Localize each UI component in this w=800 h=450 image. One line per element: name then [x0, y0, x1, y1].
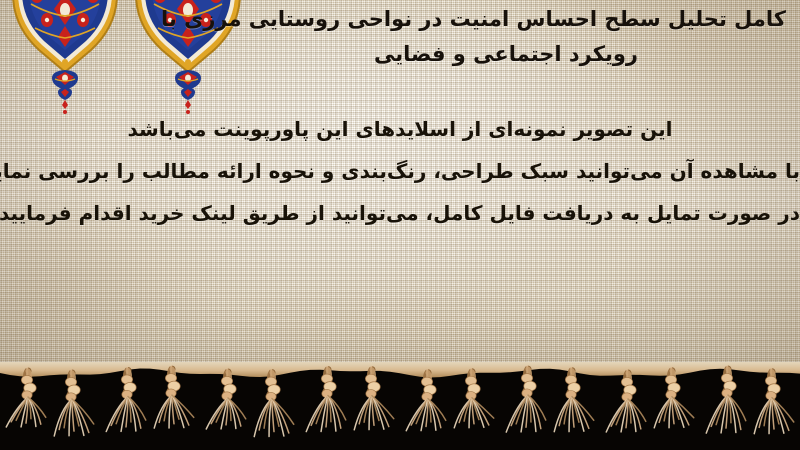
text-layer: کامل تحلیل سطح احساس امنیت در نواحی روست… — [0, 0, 800, 378]
tassel-9 — [406, 373, 446, 431]
tassel-8 — [354, 370, 394, 430]
tassel-4 — [154, 369, 194, 428]
title-line-2: رویکرد اجتماعی و فضایی — [226, 37, 786, 72]
tassel-14 — [654, 371, 694, 428]
slide-title: کامل تحلیل سطح احساس امنیت در نواحی روست… — [226, 2, 786, 72]
tassel-2 — [54, 373, 94, 436]
tassel-15 — [706, 369, 746, 433]
tassel-12 — [554, 371, 594, 432]
tassel-7 — [306, 370, 346, 432]
carpet-fringe-tassels — [0, 362, 800, 450]
tassel-6 — [254, 373, 294, 437]
tassel-10 — [454, 372, 494, 428]
tassel-5 — [206, 372, 246, 429]
tassel-16 — [754, 372, 794, 434]
tassel-13 — [606, 373, 646, 432]
tassel-11 — [506, 369, 546, 432]
title-line-1: کامل تحلیل سطح احساس امنیت در نواحی روست… — [226, 2, 786, 37]
tassel-3 — [106, 370, 146, 431]
tassel-1 — [6, 371, 46, 427]
body-line-1: این تصویر نمونه‌ای از اسلایدهای این پاور… — [0, 108, 800, 150]
fringe-cloth-edge — [0, 362, 800, 378]
body-line-3: در صورت تمایل به دریافت فایل کامل، می‌تو… — [0, 192, 800, 234]
slide-canvas: کامل تحلیل سطح احساس امنیت در نواحی روست… — [0, 0, 800, 450]
slide-body: این تصویر نمونه‌ای از اسلایدهای این پاور… — [0, 108, 800, 234]
body-line-2: با مشاهده آن می‌توانید سبک طراحی، رنگ‌بن… — [0, 150, 800, 192]
